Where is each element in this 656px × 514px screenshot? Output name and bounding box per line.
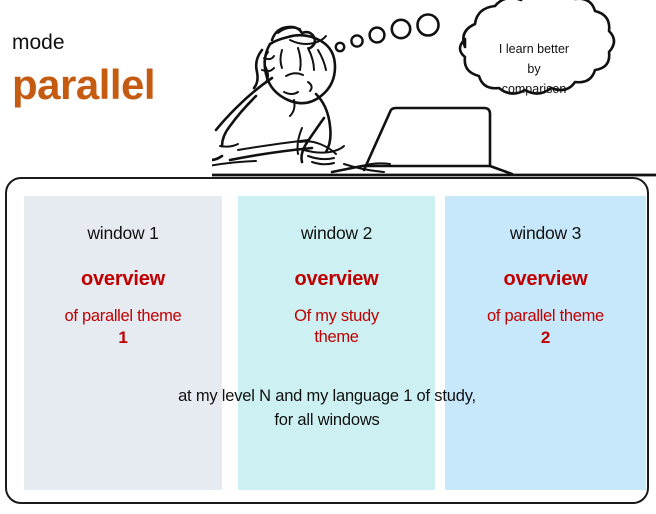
- thought-bubble-line-3: comparison: [502, 82, 567, 96]
- window-panel-1-title: window 1: [24, 224, 222, 243]
- window-panel-3-subtitle-text: of parallel theme: [487, 307, 604, 325]
- window-panel-1-subtitle-text: of parallel theme: [65, 307, 182, 325]
- mode-label: mode: [12, 32, 65, 53]
- window-panel-1[interactable]: window 1 overview of parallel theme 1: [24, 196, 222, 490]
- mode-value: parallel: [12, 62, 155, 108]
- windows-container: window 1 overview of parallel theme 1 wi…: [5, 177, 649, 504]
- window-panel-1-subtitle: of parallel theme 1: [24, 306, 222, 349]
- window-panel-3-title: window 3: [445, 224, 646, 243]
- window-panel-3[interactable]: window 3 overview of parallel theme 2: [445, 196, 646, 490]
- window-panel-2-title: window 2: [238, 224, 435, 243]
- window-panel-2-subtitle-text: Of my study: [294, 307, 379, 325]
- window-panel-2-subtitle-strong: theme: [242, 327, 431, 348]
- windows-row: window 1 overview of parallel theme 1 wi…: [7, 179, 647, 502]
- window-panel-3-subtitle-strong: 2: [449, 327, 642, 349]
- window-panel-1-subtitle-strong: 1: [28, 327, 218, 349]
- window-panel-2[interactable]: window 2 overview Of my study theme: [238, 196, 435, 490]
- window-panel-2-heading: overview: [238, 268, 435, 290]
- thought-bubble-line-1: I learn better: [499, 42, 569, 56]
- window-panel-2-subtitle: Of my study theme: [238, 306, 435, 348]
- window-panel-3-heading: overview: [445, 268, 646, 290]
- person-studying-illustration: I learn better by comparison: [212, 0, 656, 177]
- window-panel-3-subtitle: of parallel theme 2: [445, 306, 646, 349]
- window-panel-1-heading: overview: [24, 268, 222, 290]
- thought-bubble-line-2: by: [527, 62, 541, 76]
- header: mode parallel: [0, 0, 656, 177]
